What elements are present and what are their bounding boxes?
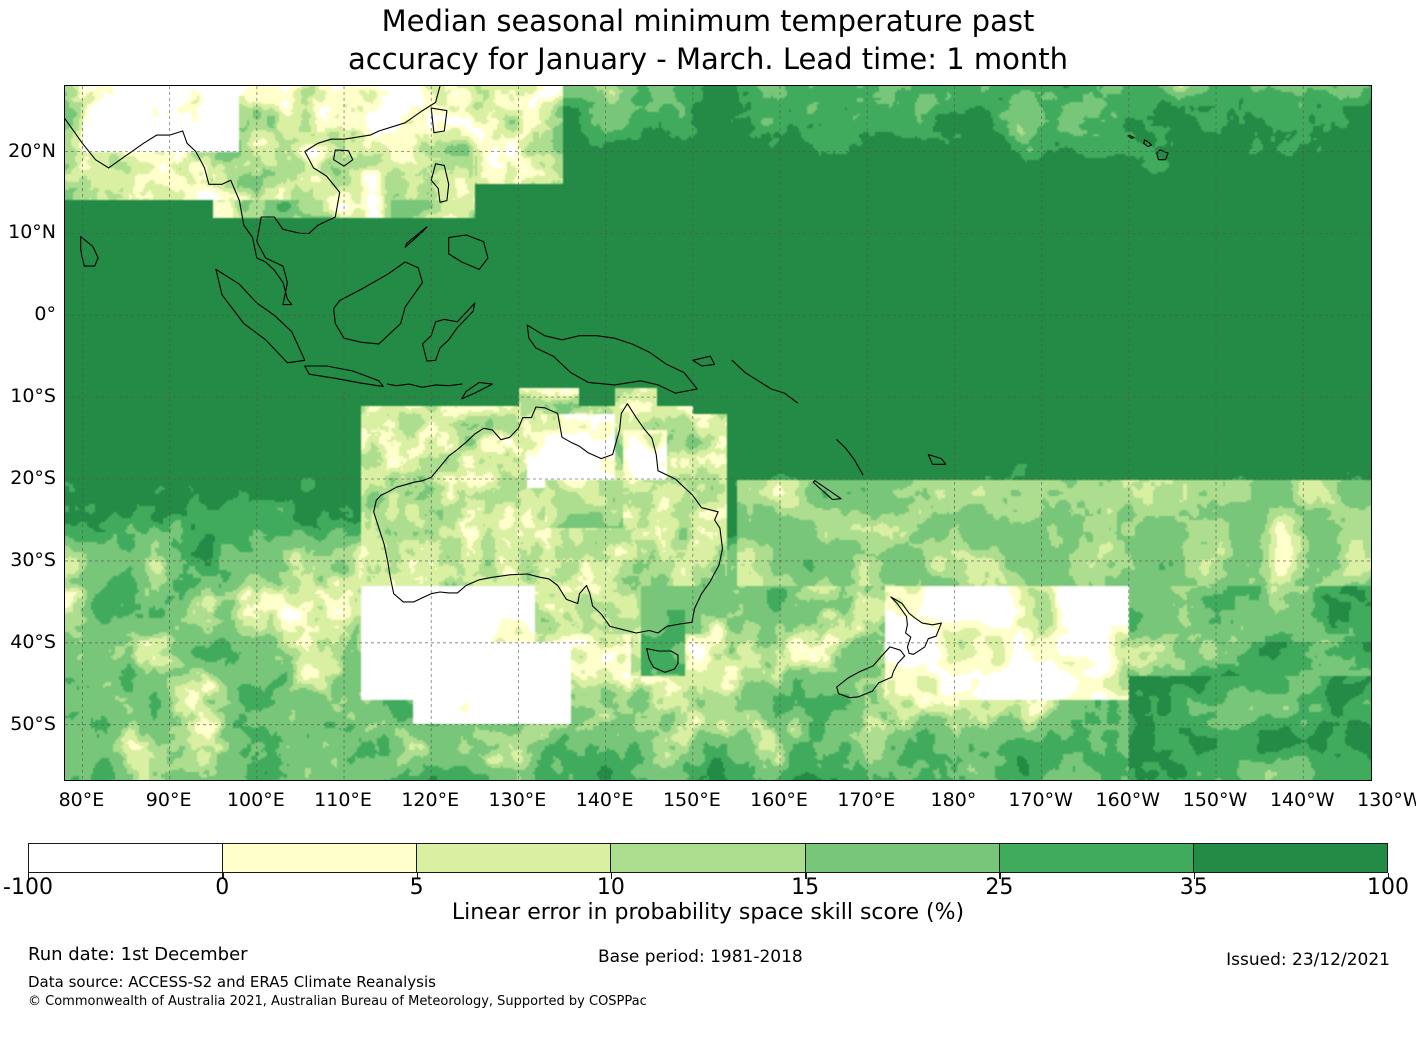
issued-date-text: Issued: 23/12/2021 xyxy=(1226,950,1390,970)
colorbar-tick-label: 0 xyxy=(215,875,229,900)
lat-tick-label: 10°S xyxy=(0,385,56,407)
lon-tick-label: 80°E xyxy=(59,789,105,811)
lat-tick-label: 30°S xyxy=(0,549,56,571)
title-line-1: Median seasonal minimum temperature past xyxy=(0,2,1416,40)
base-period-text: Base period: 1981-2018 xyxy=(598,947,803,967)
colorbar-tick-label: 15 xyxy=(791,875,819,900)
colorbar-segment xyxy=(1194,844,1387,872)
lon-tick-label: 100°E xyxy=(227,789,285,811)
lon-tick-label: 180° xyxy=(931,789,977,811)
lon-tick-label: 140°E xyxy=(576,789,634,811)
colorbar-segment xyxy=(29,844,223,872)
lat-tick-label: 20°N xyxy=(0,140,56,162)
lon-tick-label: 120°E xyxy=(401,789,459,811)
lat-tick-label: 0° xyxy=(0,303,56,325)
lon-tick-label: 160°W xyxy=(1096,789,1161,811)
lat-tick-label: 10°N xyxy=(0,221,56,243)
lon-tick-label: 160°E xyxy=(750,789,808,811)
colorbar-segment xyxy=(611,844,805,872)
lon-tick-label: 110°E xyxy=(314,789,372,811)
lon-tick-label: 90°E xyxy=(146,789,192,811)
lat-tick-label: 20°S xyxy=(0,467,56,489)
lon-tick-label: 170°W xyxy=(1008,789,1073,811)
lat-tick-label: 40°S xyxy=(0,631,56,653)
colorbar-segment xyxy=(223,844,417,872)
lon-tick-label: 130°W xyxy=(1357,789,1416,811)
colorbar-tick-label: 25 xyxy=(985,875,1013,900)
colorbar-segment xyxy=(806,844,1000,872)
footer: Run date: 1st December Base period: 1981… xyxy=(0,944,1416,1014)
lon-tick-label: 170°E xyxy=(837,789,895,811)
graticule-grid xyxy=(65,86,1372,781)
colorbar-tick-label: 5 xyxy=(410,875,424,900)
run-date-text: Run date: 1st December xyxy=(28,944,248,965)
lat-tick-label: 50°S xyxy=(0,713,56,735)
lon-tick-label: 150°W xyxy=(1183,789,1248,811)
title-line-2: accuracy for January - March. Lead time:… xyxy=(0,40,1416,78)
colorbar-segment xyxy=(417,844,611,872)
map-plot-area[interactable] xyxy=(64,85,1372,781)
colorbar-segment xyxy=(1000,844,1194,872)
colorbar-tick-label: 35 xyxy=(1180,875,1208,900)
lon-tick-label: 150°E xyxy=(663,789,721,811)
data-source-text: Data source: ACCESS-S2 and ERA5 Climate … xyxy=(28,973,436,991)
page-title: Median seasonal minimum temperature past… xyxy=(0,2,1416,78)
colorbar-tick-label: -100 xyxy=(3,875,53,900)
colorbar-ticks: -1000510152535100 xyxy=(0,873,1416,903)
lon-tick-label: 140°W xyxy=(1270,789,1335,811)
lon-tick-label: 130°E xyxy=(489,789,547,811)
colorbar-tick-label: 100 xyxy=(1367,875,1409,900)
colorbar-label: Linear error in probability space skill … xyxy=(0,900,1416,925)
colorbar[interactable] xyxy=(28,843,1388,873)
copyright-text: © Commonwealth of Australia 2021, Austra… xyxy=(28,994,647,1009)
colorbar-tick-label: 10 xyxy=(597,875,625,900)
